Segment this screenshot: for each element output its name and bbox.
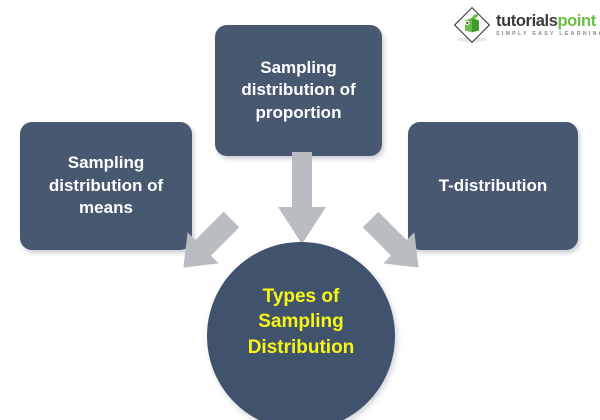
center-label-line: Distribution [248, 335, 355, 360]
center-label-line: Sampling [248, 309, 355, 334]
node-label: Sampling distribution of proportion [241, 57, 355, 124]
node-sampling-distribution-of-means[interactable]: Sampling distribution of means [20, 122, 192, 250]
node-label-line: distribution of [241, 80, 355, 99]
diamond-book-icon [452, 5, 492, 45]
logo-word-secondary: point [558, 12, 596, 30]
node-label: Sampling distribution of means [49, 152, 163, 219]
logo-tagline: SIMPLY EASY LEARNING [496, 32, 600, 37]
arrow-top-to-center-icon [272, 152, 332, 247]
node-label-line: means [79, 198, 133, 217]
node-label-line: T-distribution [439, 176, 548, 195]
node-sampling-distribution-of-proportion[interactable]: Sampling distribution of proportion [215, 25, 382, 156]
node-label-line: Sampling [260, 58, 337, 77]
node-label-line: Sampling [68, 153, 145, 172]
tutorialspoint-logo: tutorialspoint SIMPLY EASY LEARNING [452, 4, 598, 46]
center-label: Types of Sampling Distribution [248, 284, 355, 360]
node-label-line: proportion [256, 103, 342, 122]
logo-wordmark: tutorialspoint SIMPLY EASY LEARNING [496, 13, 600, 38]
logo-word-primary: tutorials [496, 12, 558, 30]
diagram-canvas: tutorialspoint SIMPLY EASY LEARNING Samp… [0, 0, 600, 420]
node-label: T-distribution [439, 175, 548, 197]
center-label-line: Types of [248, 284, 355, 309]
node-label-line: distribution of [49, 176, 163, 195]
center-node-types-of-sampling-distribution[interactable]: Types of Sampling Distribution [207, 242, 395, 420]
